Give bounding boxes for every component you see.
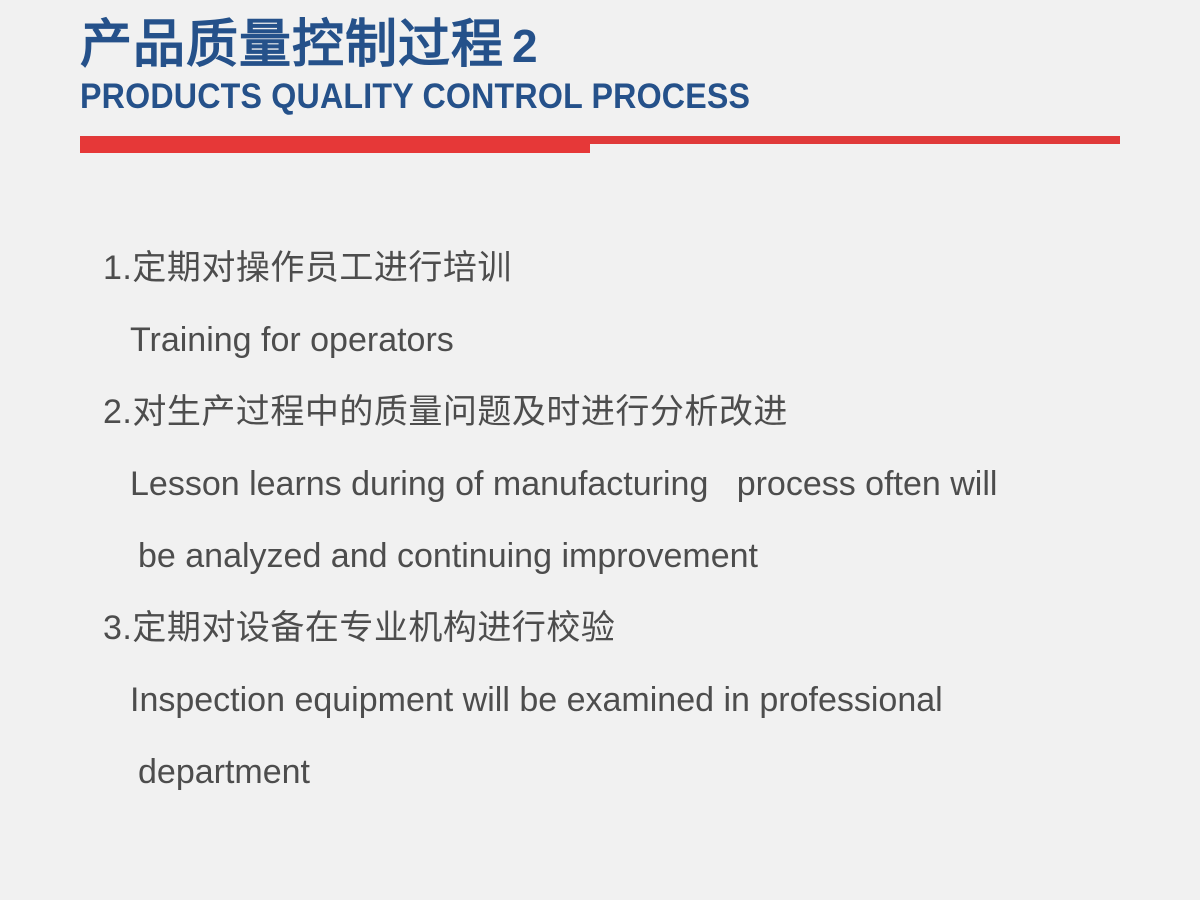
list-item-2-english-line-2: be analyzed and continuing improvement bbox=[0, 520, 1200, 592]
body-content: 1.定期对操作员工进行培训 Training for operators 2.对… bbox=[0, 232, 1200, 808]
page-title-chinese-text: 产品质量控制过程 bbox=[80, 16, 504, 74]
slide-header: 产品质量控制过程2 PRODUCTS QUALITY CONTROL PROCE… bbox=[80, 14, 1140, 117]
page-title-number: 2 bbox=[504, 20, 538, 72]
list-item-1-chinese: 1.定期对操作员工进行培训 bbox=[0, 232, 1200, 304]
list-item-2-english-line-1: Lesson learns during of manufacturing pr… bbox=[0, 448, 1200, 520]
page-subtitle-english: PRODUCTS QUALITY CONTROL PROCESS bbox=[80, 77, 1055, 117]
list-item-3-english-line-2: department bbox=[0, 736, 1200, 808]
page-title-chinese: 产品质量控制过程2 bbox=[80, 14, 1140, 77]
list-item-3-chinese: 3.定期对设备在专业机构进行校验 bbox=[0, 592, 1200, 664]
slide-canvas: 产品质量控制过程2 PRODUCTS QUALITY CONTROL PROCE… bbox=[0, 0, 1200, 900]
list-item-1-english-line-1: Training for operators bbox=[0, 304, 1200, 376]
list-item-2-chinese: 2.对生产过程中的质量问题及时进行分析改进 bbox=[0, 376, 1200, 448]
header-divider-thick-bar bbox=[80, 138, 590, 153]
list-item-3-english-line-1: Inspection equipment will be examined in… bbox=[0, 664, 1200, 736]
header-divider-thin-bar bbox=[80, 136, 1120, 144]
